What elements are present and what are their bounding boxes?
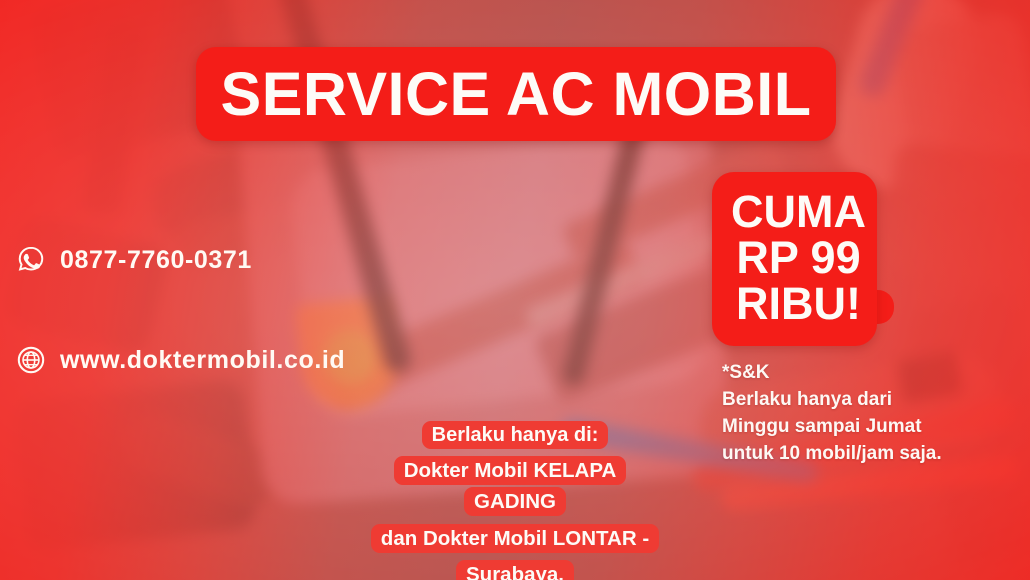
location-address-line-1: Dokter Mobil KELAPA GADING [360, 456, 670, 518]
headline-banner: SERVICE AC MOBIL [196, 47, 836, 141]
price-callout: CUMA RP 99 RIBU! [712, 172, 885, 346]
terms-line-3: Minggu sampai Jumat [722, 414, 1002, 441]
location-address-line-3: Surabaya. [360, 560, 670, 580]
website-url: www.doktermobil.co.id [60, 346, 345, 375]
location-line1-regular: Dokter Mobil [404, 459, 534, 482]
terms-line-2: Berlaku hanya dari [722, 387, 1002, 414]
location-line2-regular: dan Dokter Mobil [381, 527, 553, 550]
contact-phone[interactable]: 0877-7760-0371 [0, 232, 340, 288]
price-line-1: CUMA [731, 190, 866, 234]
whatsapp-icon [16, 245, 46, 275]
terms-line-4: untuk 10 mobil/jam saja. [722, 441, 1002, 468]
globe-icon [16, 345, 46, 375]
location-line2-bold: LONTAR - [553, 527, 649, 550]
contact-website[interactable]: www.doktermobil.co.id [0, 332, 330, 388]
location-line3: Surabaya. [456, 560, 574, 580]
promo-banner: SERVICE AC MOBIL 0877-7760-0371 www.dokt… [0, 0, 1030, 580]
location-address-line-2: dan Dokter Mobil LONTAR - [360, 524, 670, 555]
headline-text: SERVICE AC MOBIL [221, 64, 812, 125]
location-block: Berlaku hanya di: Dokter Mobil KELAPA GA… [360, 420, 670, 580]
location-title-line: Berlaku hanya di: [360, 420, 670, 450]
terms-block: *S&K Berlaku hanya dari Minggu sampai Ju… [722, 360, 1002, 468]
price-line-2: RP 99 [736, 236, 860, 280]
location-title: Berlaku hanya di: [422, 421, 609, 449]
price-line-3: RIBU! [736, 282, 861, 326]
phone-number: 0877-7760-0371 [60, 246, 252, 275]
terms-line-1: *S&K [722, 360, 1002, 387]
